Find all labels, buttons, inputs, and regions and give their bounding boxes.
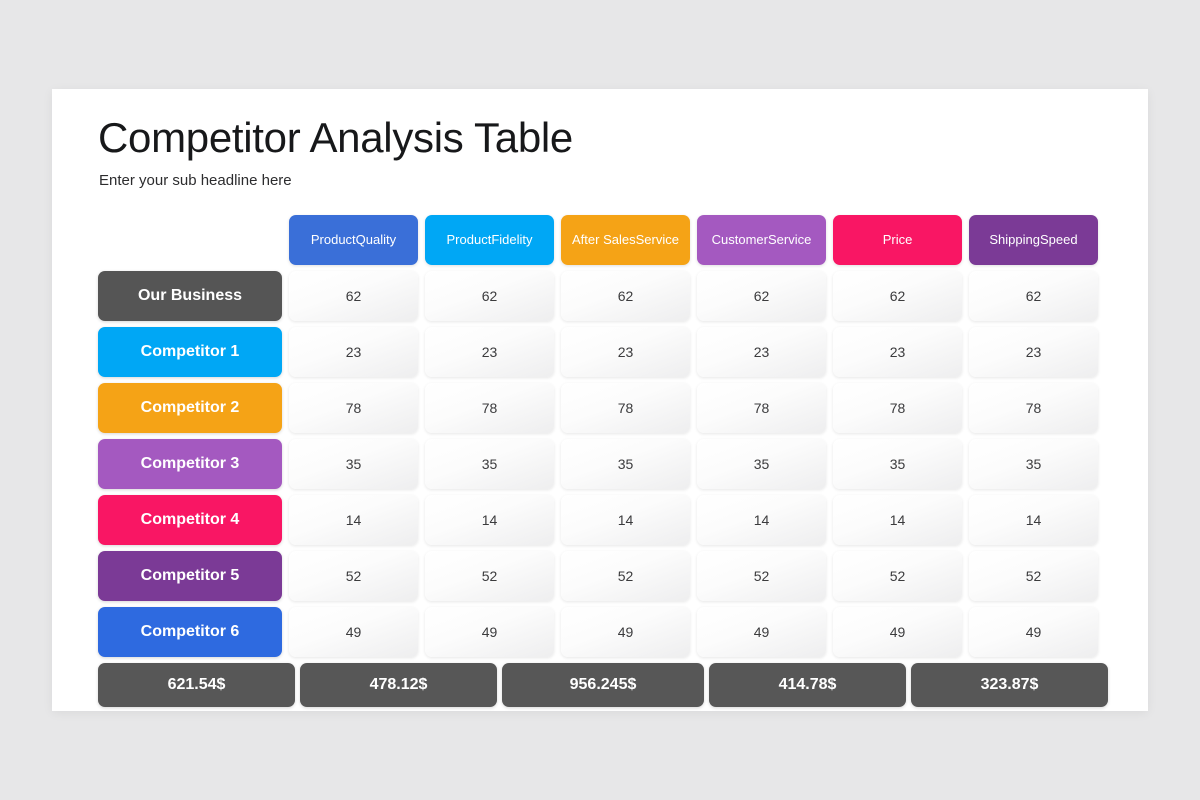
data-cell: 14 [425,495,554,545]
column-header-cell: ShippingSpeed [969,215,1098,265]
data-cell: 35 [697,439,826,489]
row-label-cell: Competitor 6 [98,607,282,657]
competitor-analysis-table: ProductQualityProductFidelityAfter Sales… [98,215,1104,707]
data-cell: 49 [561,607,690,657]
column-header-line2: Quality [356,232,396,247]
data-cell: 23 [833,327,962,377]
data-cell: 23 [561,327,690,377]
data-cell: 14 [833,495,962,545]
data-cell: 62 [289,271,418,321]
value-r6-c2[interactable]: 52 [425,551,554,601]
data-cell: 62 [697,271,826,321]
value-r3-c4[interactable]: 78 [697,383,826,433]
data-cell: 78 [425,383,554,433]
data-cell: 49 [425,607,554,657]
data-cell: 35 [833,439,962,489]
column-header-3[interactable]: After SalesService [561,215,690,265]
value-r1-c2[interactable]: 62 [425,271,554,321]
data-cell: 35 [561,439,690,489]
total-box-4[interactable]: 414.78$ [709,663,906,707]
value-r5-c5[interactable]: 14 [833,495,962,545]
column-header-line1: Price [883,232,913,247]
value-r3-c3[interactable]: 78 [561,383,690,433]
table-row: Competitor 1232323232323 [98,327,1104,377]
row-label-7[interactable]: Competitor 6 [98,607,282,657]
value-r7-c3[interactable]: 49 [561,607,690,657]
data-cell: 52 [289,551,418,601]
value-r4-c2[interactable]: 35 [425,439,554,489]
data-cell: 49 [697,607,826,657]
table-row: Competitor 5525252525252 [98,551,1104,601]
column-header-6[interactable]: ShippingSpeed [969,215,1098,265]
value-r4-c3[interactable]: 35 [561,439,690,489]
row-label-6[interactable]: Competitor 5 [98,551,282,601]
value-r1-c5[interactable]: 62 [833,271,962,321]
row-label-5[interactable]: Competitor 4 [98,495,282,545]
column-header-4[interactable]: CustomerService [697,215,826,265]
value-r3-c2[interactable]: 78 [425,383,554,433]
data-cell: 14 [697,495,826,545]
column-header-line1: Product [311,232,356,247]
data-cell: 23 [289,327,418,377]
value-r5-c4[interactable]: 14 [697,495,826,545]
table-row: Competitor 6494949494949 [98,607,1104,657]
total-box-3[interactable]: 956.245$ [502,663,704,707]
column-header-line1: Product [447,232,492,247]
data-cell: 35 [425,439,554,489]
data-cell: 78 [833,383,962,433]
data-cell: 35 [969,439,1098,489]
value-r2-c5[interactable]: 23 [833,327,962,377]
data-cell: 14 [289,495,418,545]
data-cell: 23 [969,327,1098,377]
data-cell: 78 [969,383,1098,433]
value-r1-c6[interactable]: 62 [969,271,1098,321]
row-label-cell: Competitor 1 [98,327,282,377]
value-r1-c4[interactable]: 62 [697,271,826,321]
value-r6-c4[interactable]: 52 [697,551,826,601]
data-cell: 23 [425,327,554,377]
data-cell: 52 [561,551,690,601]
row-label-3[interactable]: Competitor 2 [98,383,282,433]
value-r5-c2[interactable]: 14 [425,495,554,545]
data-cell: 62 [561,271,690,321]
value-r4-c1[interactable]: 35 [289,439,418,489]
value-r6-c1[interactable]: 52 [289,551,418,601]
table-header-row: ProductQualityProductFidelityAfter Sales… [98,215,1104,265]
table-row: Competitor 2787878787878 [98,383,1104,433]
column-header-line1: Customer [712,232,768,247]
data-cell: 52 [833,551,962,601]
value-r2-c3[interactable]: 23 [561,327,690,377]
value-r3-c1[interactable]: 78 [289,383,418,433]
value-r5-c1[interactable]: 14 [289,495,418,545]
column-header-cell: ProductQuality [289,215,418,265]
column-header-line1: Shipping [989,232,1040,247]
data-cell: 35 [289,439,418,489]
value-r2-c4[interactable]: 23 [697,327,826,377]
value-r4-c4[interactable]: 35 [697,439,826,489]
value-r7-c1[interactable]: 49 [289,607,418,657]
row-label-cell: Our Business [98,271,282,321]
row-label-2[interactable]: Competitor 1 [98,327,282,377]
slide-card: Competitor Analysis Table Enter your sub… [52,89,1148,711]
row-label-cell: Competitor 4 [98,495,282,545]
column-header-2[interactable]: ProductFidelity [425,215,554,265]
row-label-cell: Competitor 3 [98,439,282,489]
value-r2-c1[interactable]: 23 [289,327,418,377]
value-r3-c6[interactable]: 78 [969,383,1098,433]
total-box-5[interactable]: 323.87$ [911,663,1108,707]
data-cell: 49 [833,607,962,657]
value-r7-c2[interactable]: 49 [425,607,554,657]
data-cell: 49 [289,607,418,657]
page-subtitle: Enter your sub headline here [99,172,292,189]
value-r7-c4[interactable]: 49 [697,607,826,657]
page-title: Competitor Analysis Table [98,114,573,162]
totals-row: 621.54$478.12$956.245$414.78$323.87$ [98,663,1104,707]
data-cell: 23 [697,327,826,377]
value-r7-c6[interactable]: 49 [969,607,1098,657]
value-r4-c5[interactable]: 35 [833,439,962,489]
column-header-cell: ProductFidelity [425,215,554,265]
data-cell: 62 [969,271,1098,321]
table-row: Competitor 3353535353535 [98,439,1104,489]
data-cell: 49 [969,607,1098,657]
column-header-line2: Speed [1040,232,1078,247]
table-row: Competitor 4141414141414 [98,495,1104,545]
column-header-line2: Service [636,232,679,247]
total-box-1[interactable]: 621.54$ [98,663,295,707]
column-header-1[interactable]: ProductQuality [289,215,418,265]
data-cell: 52 [425,551,554,601]
value-r6-c6[interactable]: 52 [969,551,1098,601]
data-cell: 52 [697,551,826,601]
data-cell: 52 [969,551,1098,601]
value-r1-c3[interactable]: 62 [561,271,690,321]
row-label-cell: Competitor 2 [98,383,282,433]
value-r5-c6[interactable]: 14 [969,495,1098,545]
value-r6-c5[interactable]: 52 [833,551,962,601]
row-label-cell: Competitor 5 [98,551,282,601]
column-header-cell: CustomerService [697,215,826,265]
data-cell: 78 [289,383,418,433]
value-r6-c3[interactable]: 52 [561,551,690,601]
value-r3-c5[interactable]: 78 [833,383,962,433]
column-header-line2: Fidelity [491,232,532,247]
column-header-line2: Service [768,232,811,247]
data-cell: 14 [969,495,1098,545]
value-r2-c6[interactable]: 23 [969,327,1098,377]
header-corner-spacer [98,215,282,265]
table-body: Our Business626262626262Competitor 12323… [98,271,1104,657]
value-r4-c6[interactable]: 35 [969,439,1098,489]
table-row: Our Business626262626262 [98,271,1104,321]
column-header-5[interactable]: Price [833,215,962,265]
row-label-1[interactable]: Our Business [98,271,282,321]
data-cell: 62 [833,271,962,321]
column-header-cell: Price [833,215,962,265]
row-label-4[interactable]: Competitor 3 [98,439,282,489]
data-cell: 62 [425,271,554,321]
value-r1-c1[interactable]: 62 [289,271,418,321]
column-header-cell: After SalesService [561,215,690,265]
value-r7-c5[interactable]: 49 [833,607,962,657]
data-cell: 78 [697,383,826,433]
column-header-line1: After Sales [572,232,636,247]
data-cell: 14 [561,495,690,545]
value-r2-c2[interactable]: 23 [425,327,554,377]
value-r5-c3[interactable]: 14 [561,495,690,545]
total-box-2[interactable]: 478.12$ [300,663,497,707]
data-cell: 78 [561,383,690,433]
